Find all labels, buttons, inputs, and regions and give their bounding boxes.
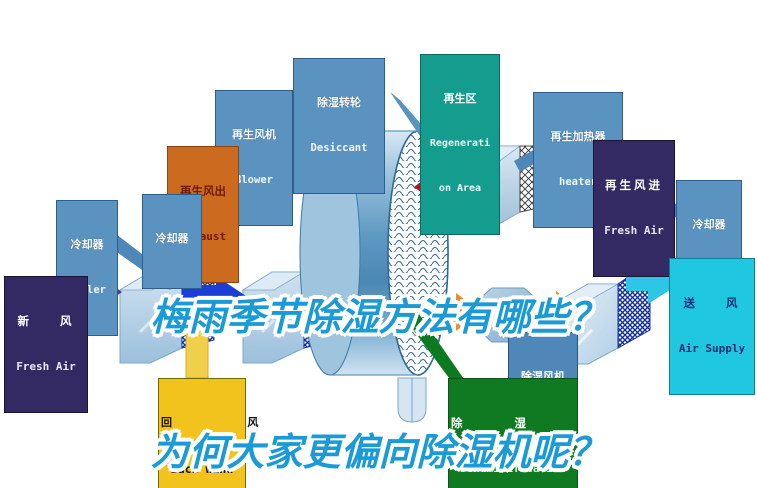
label-regeneration-area-cn: 再生区 bbox=[423, 93, 497, 105]
page-title-line-1: 梅雨季节除湿方法有哪些？ bbox=[0, 295, 757, 340]
page-title: 梅雨季节除湿方法有哪些？ 为何大家更偏向除湿机呢？ bbox=[0, 205, 757, 488]
page-title-line-2: 为何大家更偏向除湿机呢？ bbox=[0, 430, 757, 475]
label-regeneration-blower-cn: 再生风机 bbox=[218, 129, 290, 141]
label-desiccant-wheel[interactable]: 除湿转轮 Desiccant bbox=[293, 58, 385, 194]
label-desiccant-wheel-en: Desiccant bbox=[296, 143, 382, 154]
label-regeneration-area-en1: Regenerati bbox=[423, 139, 497, 150]
diagram-canvas: xt bbox=[0, 0, 757, 488]
label-regeneration-area-en2: on Area bbox=[423, 184, 497, 195]
label-regen-fresh-air-cn: 再生风进 bbox=[596, 179, 672, 191]
label-desiccant-wheel-cn: 除湿转轮 bbox=[296, 97, 382, 109]
